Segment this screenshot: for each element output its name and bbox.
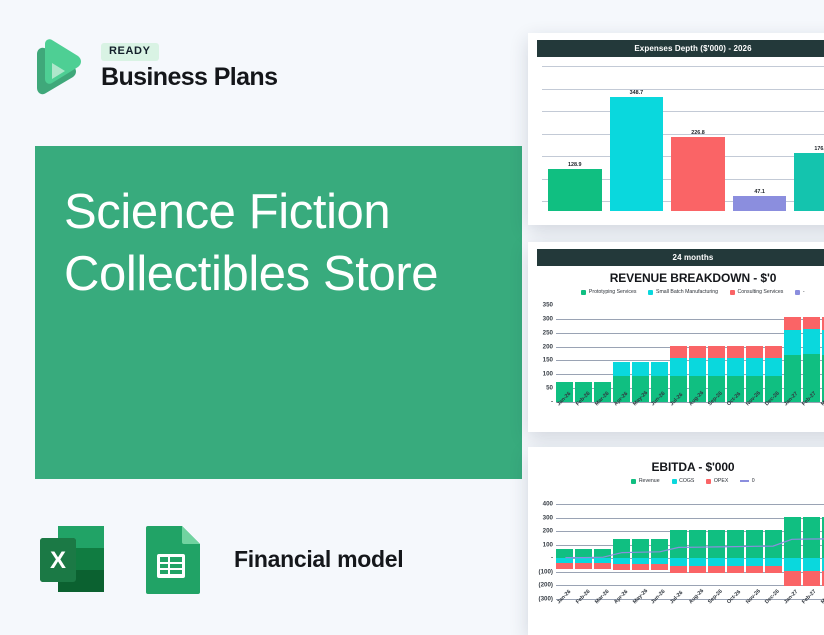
y-tick-label: 100 [543, 371, 556, 378]
legend-swatch [581, 290, 586, 295]
bar-column [784, 305, 801, 402]
plot-area-revenue: 35030025020015010050- [556, 305, 824, 402]
title-panel: Science Fiction Collectibles Store [35, 146, 522, 479]
bar-segment [727, 358, 744, 376]
bar-segment-positive [784, 517, 801, 558]
bar [671, 137, 725, 211]
footer-formats: X Financial model [30, 518, 403, 600]
bar-segment [651, 362, 668, 375]
plot-area-expenses: 128.9348.7226.847.1176.5 [542, 66, 824, 211]
chart-title-revenue: REVENUE BREAKDOWN - $'0 [528, 266, 824, 287]
y-tick-label: 100 [543, 541, 556, 548]
bar-column: 226.8 [671, 66, 725, 211]
bar-segment-negative [594, 563, 611, 568]
bar-segment-negative [632, 564, 649, 569]
x-axis-labels-revenue: Jan-26Feb-26Mar-26Apr-26May-26Jun-26Jul-… [556, 403, 824, 409]
bar-segment-positive [651, 539, 668, 558]
bar-segment-negative [803, 571, 820, 586]
bar-segment-negative [651, 564, 668, 569]
legend-swatch [795, 290, 800, 295]
bar-segment-negative [727, 566, 744, 573]
bar-segment-positive [803, 517, 820, 558]
y-tick-label: 350 [543, 302, 556, 309]
bar-segment [670, 358, 687, 376]
bar-segment-positive [689, 530, 706, 558]
bar-segment-positive [765, 530, 782, 558]
bar-column [594, 305, 611, 402]
legend-label: Prototyping Services [589, 289, 637, 295]
legend-swatch [730, 290, 735, 295]
bar-column: 348.7 [610, 66, 664, 211]
chart-card-revenue[interactable]: 24 months REVENUE BREAKDOWN - $'0 Protot… [528, 242, 824, 432]
y-tick-label: 200 [543, 343, 556, 350]
legend-label: 0 [752, 478, 755, 484]
chart-legend-revenue: Prototyping ServicesSmall Batch Manufact… [528, 287, 824, 298]
legend-item: - [795, 289, 804, 295]
bar-segment-negative [708, 558, 725, 566]
legend-swatch [631, 479, 636, 484]
bar-segment-negative [784, 558, 801, 571]
bar-column [708, 305, 725, 402]
bar-column [575, 504, 592, 599]
legend-item: Small Batch Manufacturing [648, 289, 718, 295]
bar-segment [689, 346, 706, 358]
bar-segment [689, 358, 706, 376]
bar-segment [765, 346, 782, 358]
legend-item: COGS [672, 478, 695, 484]
y-tick-label: 250 [543, 329, 556, 336]
x-axis-labels-ebitda: Jan-26Feb-26Mar-26Apr-26May-26Jun-26Jul-… [556, 601, 824, 607]
bar-segment-positive [727, 530, 744, 558]
bar-column [765, 504, 782, 599]
bar-segment [803, 317, 820, 329]
brand-name: Business Plans [101, 64, 277, 90]
legend-swatch [672, 479, 677, 484]
legend-line-swatch [740, 480, 749, 482]
bar-column [651, 305, 668, 402]
bar [610, 97, 664, 211]
bar-column: 128.9 [548, 66, 602, 211]
bar-segment-positive [632, 539, 649, 558]
bar-segment-negative [689, 566, 706, 573]
bar-column [556, 504, 573, 599]
bars-container [556, 305, 824, 402]
bar-segment [632, 362, 649, 375]
legend-swatch [706, 479, 711, 484]
page-title: Science Fiction Collectibles Store [64, 182, 494, 305]
chart-title-expenses: Expenses Depth ($'000) - 2026 [537, 40, 824, 57]
bar-column [746, 504, 763, 599]
bar-segment-positive [746, 530, 763, 558]
bar-segment-positive [670, 530, 687, 558]
plot-area-ebitda: 400300200100-(100)(200)(300) [556, 504, 824, 599]
bar-column [803, 504, 820, 599]
legend-item: Consulting Services [730, 289, 783, 295]
legend-label: COGS [679, 478, 694, 484]
bar-column [670, 504, 687, 599]
bar-segment-negative [784, 571, 801, 586]
bar-segment-positive [708, 530, 725, 558]
bar-segment-negative [803, 558, 820, 571]
bar-segment-negative [613, 564, 630, 569]
bar-segment-negative [765, 558, 782, 566]
legend-swatch [648, 290, 653, 295]
bar-segment-negative [575, 563, 592, 568]
bar-segment [708, 346, 725, 358]
bar-segment [803, 329, 820, 354]
bar-segment-negative [670, 566, 687, 573]
svg-text:X: X [50, 547, 66, 574]
bar-column: 47.1 [733, 66, 787, 211]
bar-segment-negative [670, 558, 687, 566]
chart-legend-ebitda: RevenueCOGSOPEX0 [528, 476, 824, 487]
y-tick-label: 300 [543, 514, 556, 521]
bar-segment-negative [556, 563, 573, 568]
bar-data-label: 226.8 [691, 130, 705, 136]
bar-column [727, 504, 744, 599]
bar-segment [784, 330, 801, 355]
bar-segment-negative [746, 566, 763, 573]
y-tick-label: 300 [543, 315, 556, 322]
bar-data-label: 47.1 [754, 189, 765, 195]
legend-item: 0 [740, 478, 754, 484]
bar-column [632, 305, 649, 402]
y-tick-label: (200) [539, 582, 556, 589]
chart-band-24-months: 24 months [537, 249, 824, 266]
y-tick-label: 400 [543, 501, 556, 508]
bar-column [632, 504, 649, 599]
bar-column [613, 305, 630, 402]
bar-segment [746, 346, 763, 358]
y-tick-label: (100) [539, 568, 556, 575]
bar-column [670, 305, 687, 402]
bar-segment-negative [708, 566, 725, 573]
legend-item: Prototyping Services [581, 289, 636, 295]
legend-label: Revenue [639, 478, 660, 484]
chart-title-ebitda: EBITDA - $'000 [528, 447, 824, 476]
legend-label: Small Batch Manufacturing [656, 289, 718, 295]
bar-segment-negative [689, 558, 706, 566]
y-tick-label: 150 [543, 357, 556, 364]
bar-column: 176.5 [794, 66, 824, 211]
bar [733, 196, 787, 211]
play-triangle-logo-icon [25, 36, 87, 98]
bar-column [765, 305, 782, 402]
bar-data-label: 128.9 [568, 162, 582, 168]
bar-segment-negative [746, 558, 763, 566]
bar-column [689, 504, 706, 599]
bar-segment [708, 358, 725, 376]
legend-item: OPEX [706, 478, 728, 484]
legend-item: Revenue [631, 478, 659, 484]
bar [794, 153, 824, 211]
bar-segment-positive [613, 539, 630, 558]
bar-column [746, 305, 763, 402]
bar-column [613, 504, 630, 599]
bar [548, 169, 602, 211]
bar-segment-positive [575, 549, 592, 559]
bar-segment [765, 358, 782, 376]
bar-column [651, 504, 668, 599]
y-tick-label: (300) [539, 596, 556, 603]
bar-segment [613, 362, 630, 375]
bar-segment-positive [556, 549, 573, 559]
legend-label: OPEX [714, 478, 728, 484]
bar-segment [784, 317, 801, 329]
bar-segment [727, 346, 744, 358]
ready-badge: READY [101, 43, 159, 61]
bar-column [708, 504, 725, 599]
bar-column [594, 504, 611, 599]
bar-column [727, 305, 744, 402]
chart-card-ebitda[interactable]: EBITDA - $'000 RevenueCOGSOPEX0 40030020… [528, 447, 824, 635]
bar-data-label: 176.5 [814, 146, 824, 152]
microsoft-excel-icon: X [30, 518, 112, 600]
bar-segment [670, 346, 687, 358]
bar-segment-negative [765, 566, 782, 573]
chart-card-expenses[interactable]: Expenses Depth ($'000) - 2026 128.9348.7… [528, 33, 824, 225]
bar-column [575, 305, 592, 402]
bar-segment-negative [727, 558, 744, 566]
bars-container: 128.9348.7226.847.1176.5 [542, 66, 824, 211]
brand-block: READY Business Plans [25, 24, 325, 109]
y-tick-label: 50 [546, 385, 556, 392]
bar-column [689, 305, 706, 402]
google-sheets-icon [130, 518, 212, 600]
bar-column [784, 504, 801, 599]
bar-column [556, 305, 573, 402]
legend-label: - [803, 289, 805, 295]
bar-data-label: 348.7 [630, 90, 644, 96]
footer-label: Financial model [234, 546, 403, 573]
bars-container [556, 504, 824, 599]
y-tick-label: 200 [543, 528, 556, 535]
bar-segment-positive [594, 549, 611, 559]
bar-column [803, 305, 820, 402]
bar-segment [746, 358, 763, 376]
legend-label: Consulting Services [737, 289, 783, 295]
